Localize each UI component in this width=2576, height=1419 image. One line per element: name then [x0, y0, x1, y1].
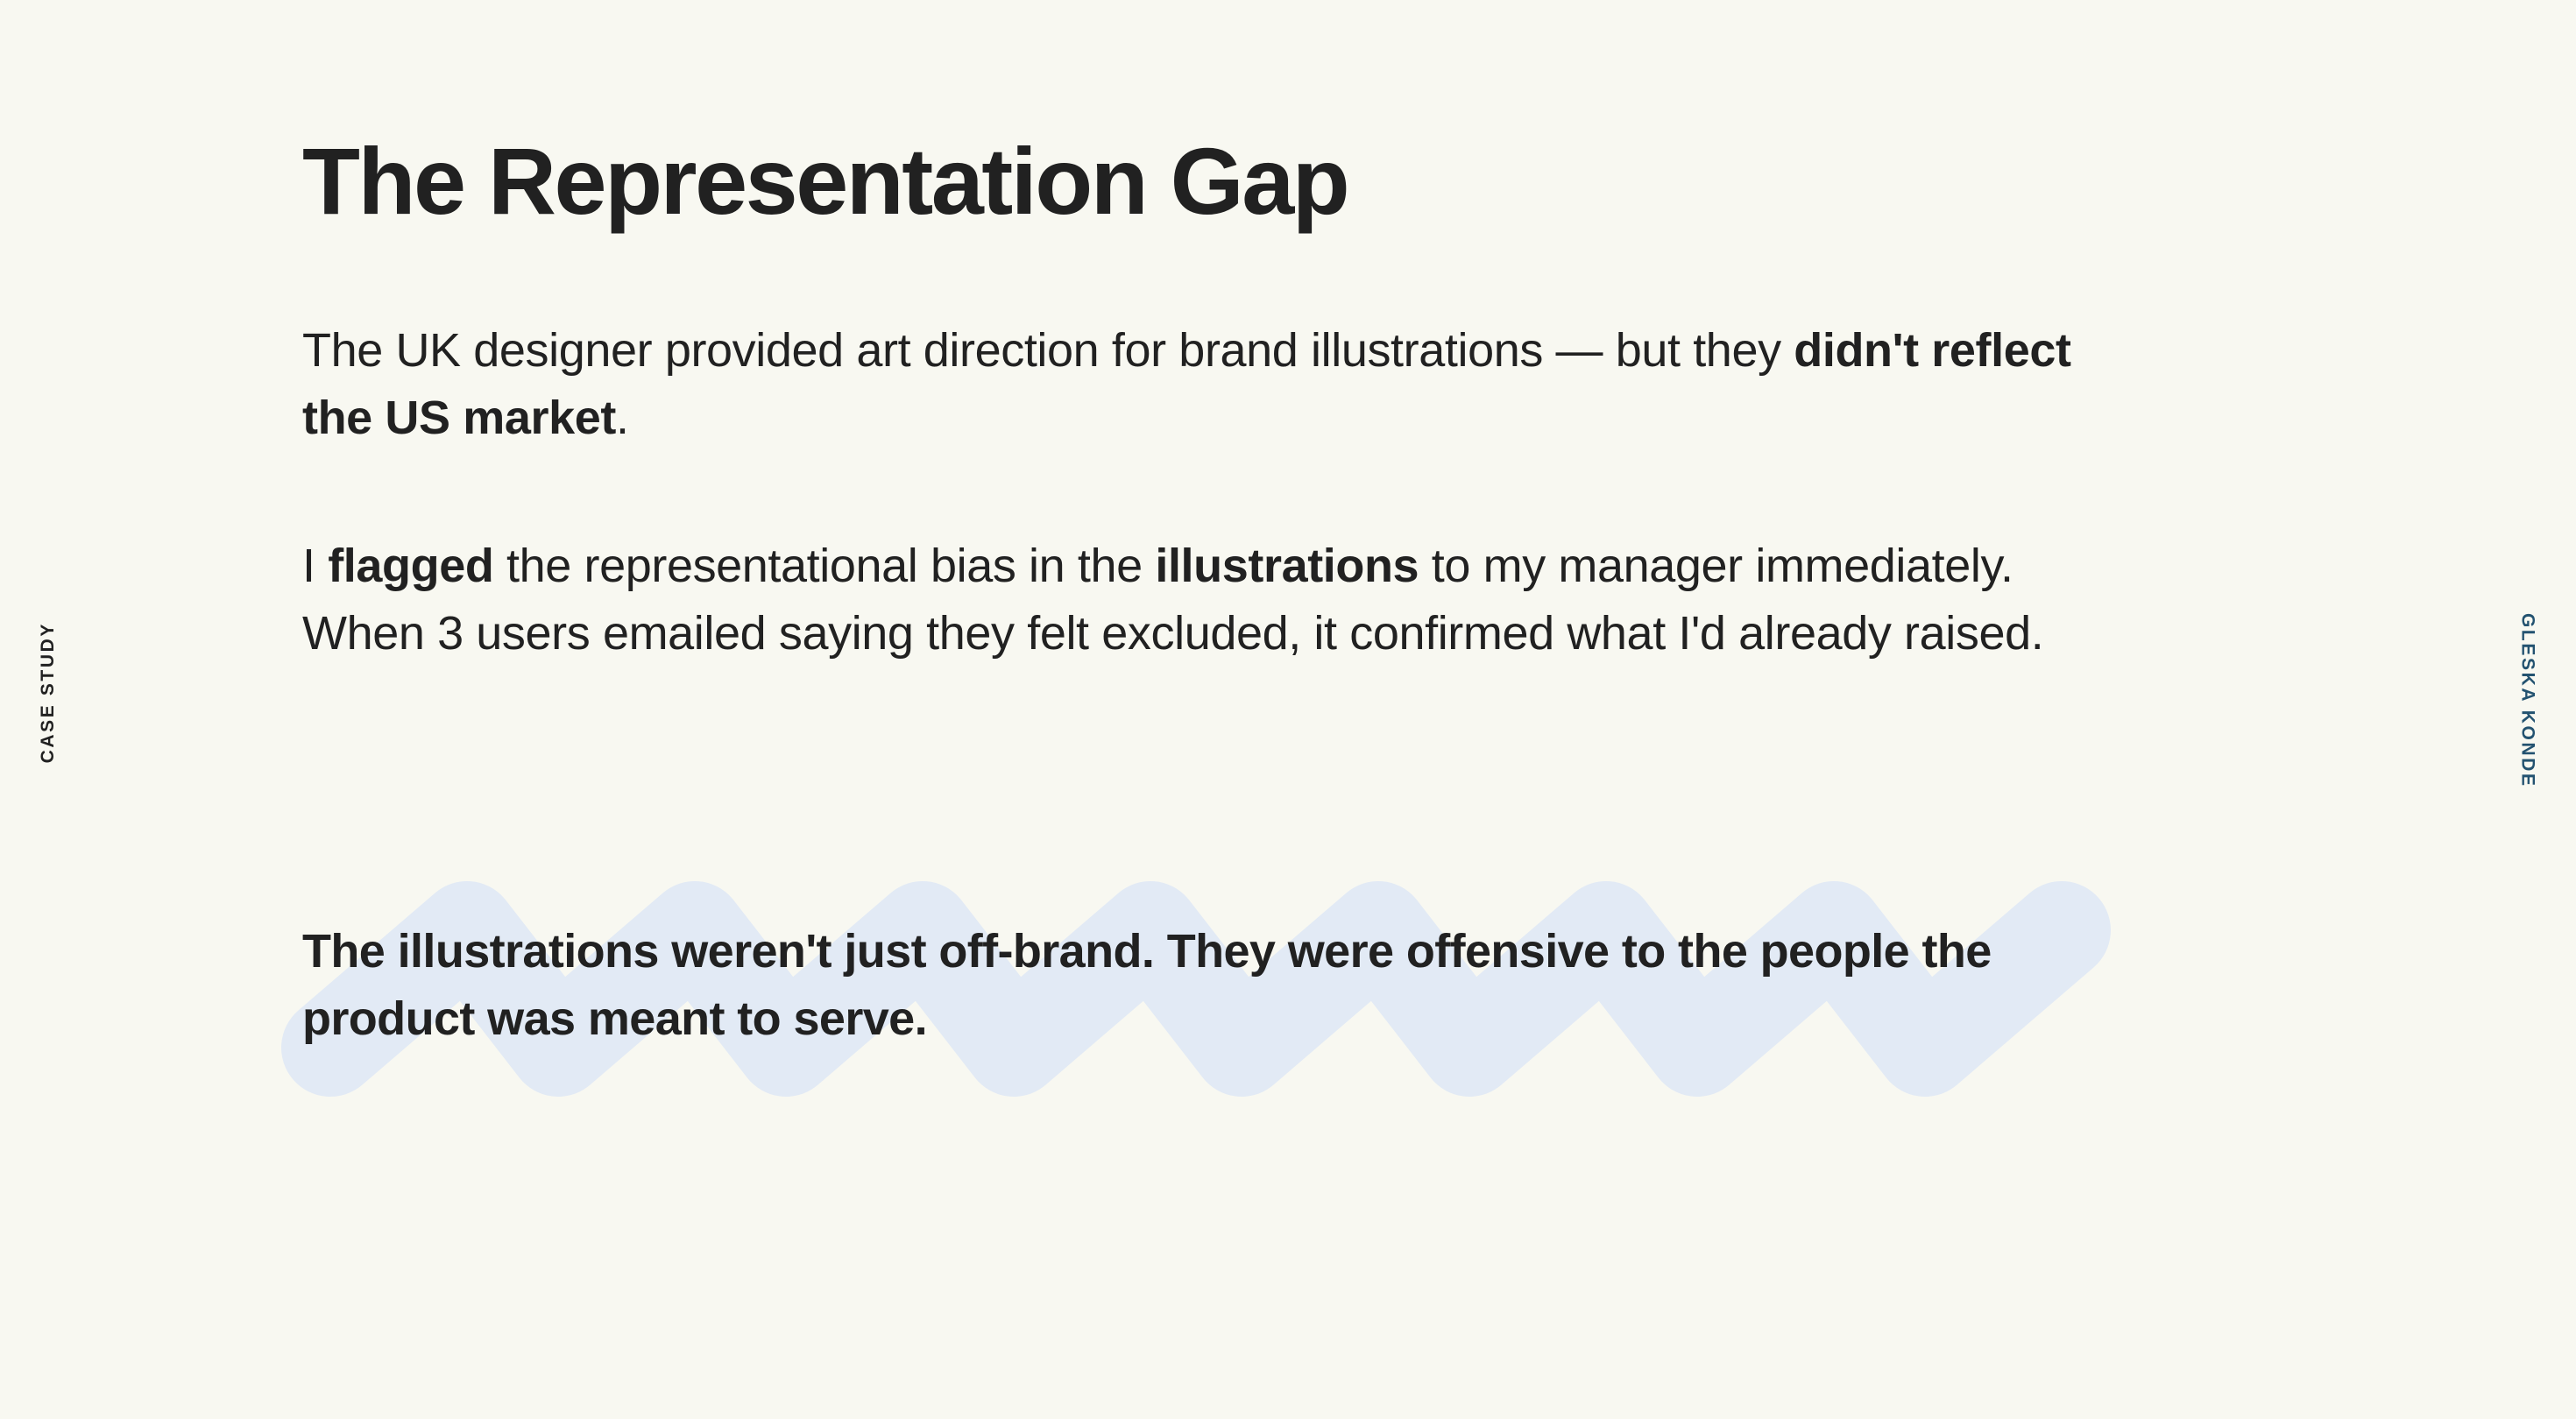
- emphasis-run: illustrations: [1155, 540, 1419, 592]
- text-run: I: [302, 540, 328, 592]
- body-paragraph-1: The UK designer provided art direction f…: [302, 317, 2107, 451]
- page-title: The Representation Gap: [302, 131, 1348, 230]
- text-run: The UK designer provided art direction f…: [302, 324, 1794, 377]
- text-run: the representational bias in the: [493, 540, 1155, 592]
- pullquote-text: The illustrations weren't just off-brand…: [302, 918, 2107, 1052]
- body-paragraph-2: I flagged the representational bias in t…: [302, 533, 2107, 667]
- emphasis-run: flagged: [328, 540, 493, 592]
- content-column: The Representation Gap The UK designer p…: [302, 0, 2230, 1419]
- slide-canvas: CASE STUDY GLESKA KONDE The Representati…: [0, 0, 2576, 1419]
- case-study-label: CASE STUDY: [39, 622, 57, 763]
- pullquote-block: The illustrations weren't just off-brand…: [250, 876, 2160, 1104]
- brand-label: GLESKA KONDE: [2519, 613, 2537, 788]
- text-run: .: [616, 392, 629, 444]
